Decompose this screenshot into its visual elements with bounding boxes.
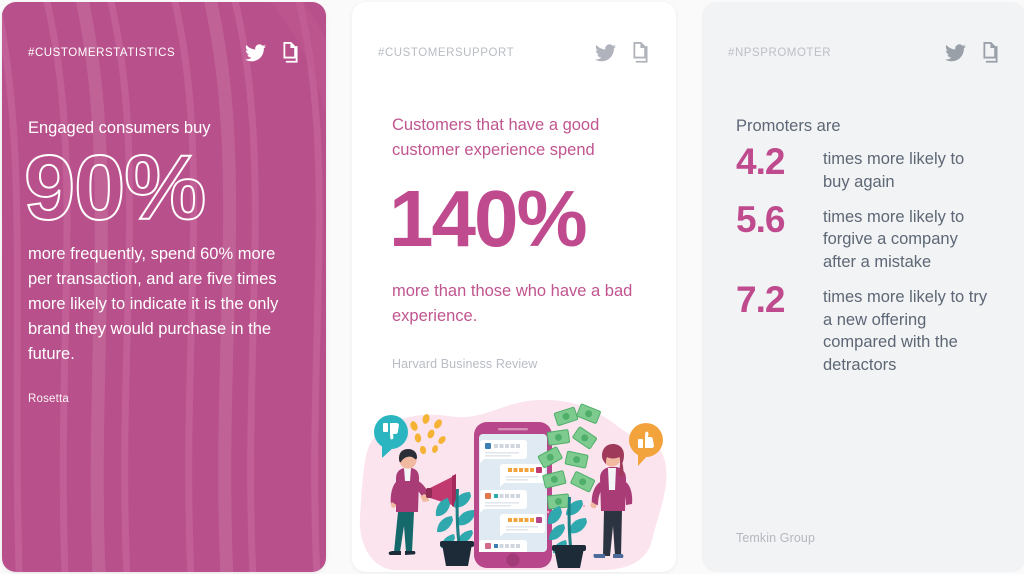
lead-text: Promoters are [736, 115, 992, 138]
header-icon-group [245, 42, 300, 63]
card-header: #CUSTOMERSUPPORT [352, 2, 676, 63]
statistics-card-board: #CUSTOMERSTATISTICS Engaged consumers [0, 0, 1024, 574]
header-icon-group [595, 42, 650, 63]
twitter-icon[interactable] [245, 44, 266, 62]
stat-description: times more likely to forgive a company a… [823, 202, 992, 274]
card-customer-support: #CUSTOMERSUPPORT Customers that have a g… [352, 2, 676, 572]
statistics-list: 4.2 times more likely to buy again 5.6 t… [736, 144, 992, 385]
copy-icon[interactable] [981, 42, 1000, 63]
copy-icon[interactable] [631, 42, 650, 63]
card-header: #CUSTOMERSTATISTICS [2, 2, 326, 63]
header-icon-group [945, 42, 1000, 63]
twitter-icon[interactable] [595, 44, 616, 62]
tail-text: more frequently, spend 60% more per tran… [28, 242, 300, 367]
card-header: #NPSPROMOTER [702, 2, 1024, 63]
card-nps-promoter: #NPSPROMOTER Promoters are [702, 2, 1024, 572]
source-attribution: Temkin Group [736, 531, 992, 545]
stat-number: 4.2 [736, 142, 810, 182]
customer-reviews-illustration [352, 394, 676, 572]
phone-reviews [474, 422, 552, 568]
hashtag-label: #CUSTOMERSUPPORT [378, 47, 514, 59]
big-statistic: 90% [24, 137, 300, 240]
copy-icon[interactable] [281, 42, 300, 63]
stat-number: 7.2 [736, 280, 810, 320]
lead-text: Customers that have a good customer expe… [392, 113, 636, 163]
twitter-icon[interactable] [945, 44, 966, 62]
card-body: Engaged consumers buy 90% more frequentl… [2, 117, 326, 405]
source-attribution: Harvard Business Review [392, 357, 636, 371]
list-item: 4.2 times more likely to buy again [736, 144, 992, 194]
stat-description: times more likely to buy again [823, 144, 992, 194]
stat-number: 5.6 [736, 200, 810, 240]
big-statistic: 140% [389, 177, 636, 261]
hashtag-label: #CUSTOMERSTATISTICS [28, 47, 175, 59]
list-item: 7.2 times more likely to try a new offer… [736, 282, 992, 377]
hashtag-label: #NPSPROMOTER [728, 47, 831, 59]
tail-text: more than those who have a bad experienc… [392, 279, 636, 329]
card-body: Customers that have a good customer expe… [352, 113, 676, 371]
card-customer-statistics: #CUSTOMERSTATISTICS Engaged consumers [2, 2, 326, 572]
source-attribution: Rosetta [28, 393, 300, 405]
card-body: Promoters are 4.2 times more likely to b… [702, 63, 1024, 571]
stat-description: times more likely to try a new offering … [823, 282, 992, 377]
list-item: 5.6 times more likely to forgive a compa… [736, 202, 992, 274]
